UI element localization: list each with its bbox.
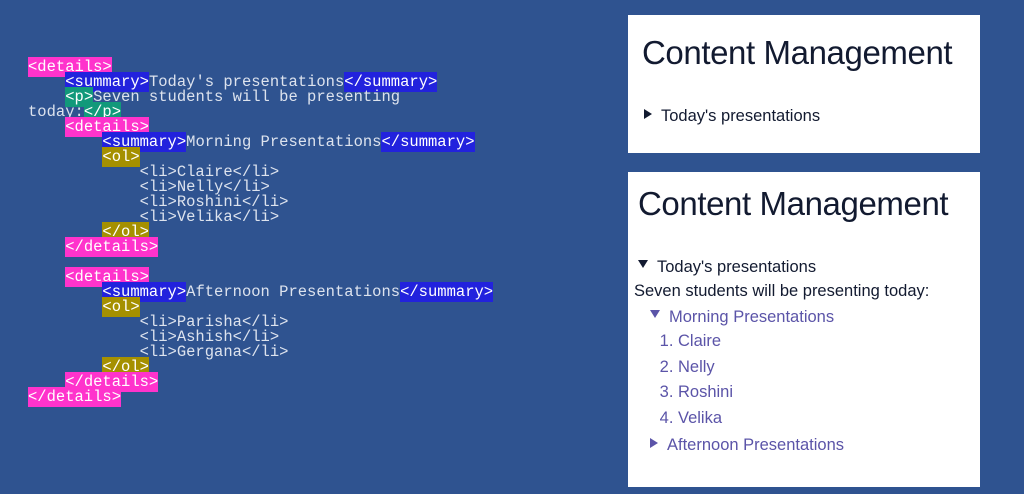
- triangle-right-icon: [644, 109, 652, 119]
- details-summary-todays-presentations-expanded[interactable]: Today's presentations: [638, 258, 980, 277]
- code-token-plain: Morning Presentations: [186, 132, 381, 152]
- triangle-right-icon: [650, 438, 658, 448]
- html-code-listing: <details> <summary>Today's presentations…: [28, 60, 493, 405]
- code-token-summary: </summary>: [400, 282, 493, 302]
- page-title-collapsed: Content Management: [628, 15, 980, 73]
- code-source-pane: <details> <summary>Today's presentations…: [0, 0, 600, 494]
- intro-paragraph: Seven students will be presenting today:: [634, 282, 980, 301]
- code-token-plain: <li>Velika</li>: [140, 207, 280, 227]
- details-summary-morning-presentations[interactable]: Morning Presentations: [650, 308, 980, 327]
- code-token-details: </details>: [65, 237, 158, 257]
- list-item: Roshini: [678, 380, 980, 406]
- morning-details-block: Morning Presentations ClaireNellyRoshini…: [650, 308, 980, 455]
- details-summary-todays-presentations-collapsed[interactable]: Today's presentations: [644, 107, 980, 126]
- details-summary-afternoon-presentations[interactable]: Afternoon Presentations: [650, 436, 980, 455]
- code-token-plain: Afternoon Presentations: [186, 282, 400, 302]
- list-item: Nelly: [678, 355, 980, 381]
- code-token-summary: </summary>: [381, 132, 474, 152]
- code-token-plain: Seven students will be presenting: [93, 87, 400, 107]
- preview-panel-expanded: Content Management Today's presentations…: [628, 172, 980, 487]
- summary-label: Afternoon Presentations: [667, 436, 844, 455]
- summary-label: Morning Presentations: [669, 308, 834, 327]
- morning-presenters-list: ClaireNellyRoshiniVelika: [678, 329, 980, 431]
- list-item: Claire: [678, 329, 980, 355]
- page-title-expanded: Content Management: [628, 172, 980, 224]
- code-token-details: </details>: [28, 387, 121, 407]
- code-line: </details>: [28, 240, 493, 255]
- summary-label: Today's presentations: [661, 107, 820, 126]
- code-token-plain: <li>Gergana</li>: [140, 342, 289, 362]
- list-item: Velika: [678, 406, 980, 432]
- preview-panel-collapsed: Content Management Today's presentations: [628, 15, 980, 153]
- code-line: </details>: [28, 390, 493, 405]
- triangle-down-icon: [638, 260, 648, 268]
- summary-label: Today's presentations: [657, 258, 816, 277]
- triangle-down-icon: [650, 310, 660, 318]
